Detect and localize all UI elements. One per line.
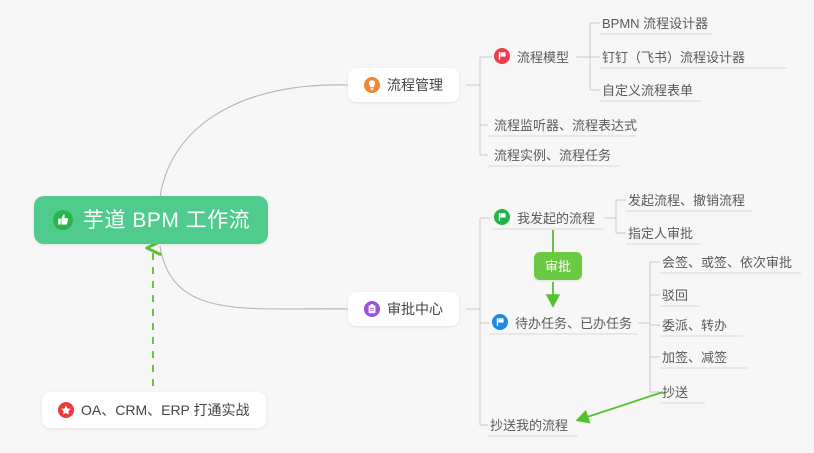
leaf-custom-process-form[interactable]: 自定义流程表单	[600, 79, 699, 103]
node-todo-done-task[interactable]: 待办任务、已办任务	[490, 312, 638, 336]
leaf-label: 加签、减签	[662, 351, 727, 364]
branch-label: 流程管理	[387, 78, 443, 92]
leaf-start-cancel-process[interactable]: 发起流程、撤销流程	[626, 189, 751, 213]
root-node[interactable]: 芋道 BPM 工作流	[34, 196, 268, 244]
lightbulb-icon	[364, 77, 380, 93]
leaf-label: 驳回	[662, 289, 688, 302]
leaf-bpmn-designer[interactable]: BPMN 流程设计器	[600, 12, 714, 36]
leaf-label: 自定义流程表单	[602, 84, 693, 97]
leaf-label: 钉钉（飞书）流程设计器	[602, 51, 745, 64]
leaf-reject[interactable]: 驳回	[660, 284, 694, 308]
branch-process-management[interactable]: 流程管理	[348, 68, 459, 102]
leaf-label: 指定人审批	[628, 227, 693, 240]
leaf-process-instance-task[interactable]: 流程实例、流程任务	[492, 144, 617, 168]
approval-tag[interactable]: 审批	[534, 252, 582, 280]
branch-label: 审批中心	[387, 302, 443, 316]
leaf-label: 会签、或签、依次审批	[662, 256, 792, 269]
leaf-add-remove-sign[interactable]: 加签、减签	[660, 346, 733, 370]
node-my-initiated-process[interactable]: 我发起的流程	[492, 207, 601, 231]
leaf-label: 流程实例、流程任务	[494, 149, 611, 162]
node-label: 流程模型	[517, 51, 569, 64]
leaf-label: BPMN 流程设计器	[602, 17, 708, 30]
thumbs-up-icon	[52, 209, 74, 231]
leaf-countersign[interactable]: 会签、或签、依次审批	[660, 251, 798, 275]
node-label: 待办任务、已办任务	[515, 317, 632, 330]
leaf-carbon-copy[interactable]: 抄送	[660, 381, 694, 405]
leaf-label: 抄送我的流程	[490, 419, 568, 432]
flag-icon-green	[494, 209, 510, 225]
leaf-cc-to-me-process[interactable]: 抄送我的流程	[488, 414, 574, 438]
leaf-label: 委派、转办	[662, 319, 727, 332]
leaf-delegate-transfer[interactable]: 委派、转办	[660, 314, 733, 338]
leaf-dingtalk-feishu-designer[interactable]: 钉钉（飞书）流程设计器	[600, 46, 751, 70]
leaf-label: 流程监听器、流程表达式	[494, 119, 637, 132]
bottom-note[interactable]: OA、CRM、ERP 打通实战	[42, 392, 266, 428]
flag-icon-blue	[492, 314, 508, 330]
clipboard-icon	[364, 301, 380, 317]
mindmap-canvas: 芋道 BPM 工作流 流程管理 流程模型 BPMN 流程设计器 钉钉（飞书）流程…	[0, 0, 814, 453]
flag-icon-red	[494, 48, 510, 64]
branch-approval-center[interactable]: 审批中心	[348, 292, 459, 326]
approval-tag-label: 审批	[545, 260, 571, 273]
root-label: 芋道 BPM 工作流	[83, 210, 250, 231]
star-icon	[58, 402, 74, 418]
leaf-label: 抄送	[662, 386, 688, 399]
bottom-note-label: OA、CRM、ERP 打通实战	[81, 403, 250, 417]
leaf-assignee-approval[interactable]: 指定人审批	[626, 222, 699, 246]
node-process-model[interactable]: 流程模型	[492, 46, 575, 70]
node-label: 我发起的流程	[517, 212, 595, 225]
leaf-label: 发起流程、撤销流程	[628, 194, 745, 207]
leaf-process-listener-expression[interactable]: 流程监听器、流程表达式	[492, 114, 643, 138]
